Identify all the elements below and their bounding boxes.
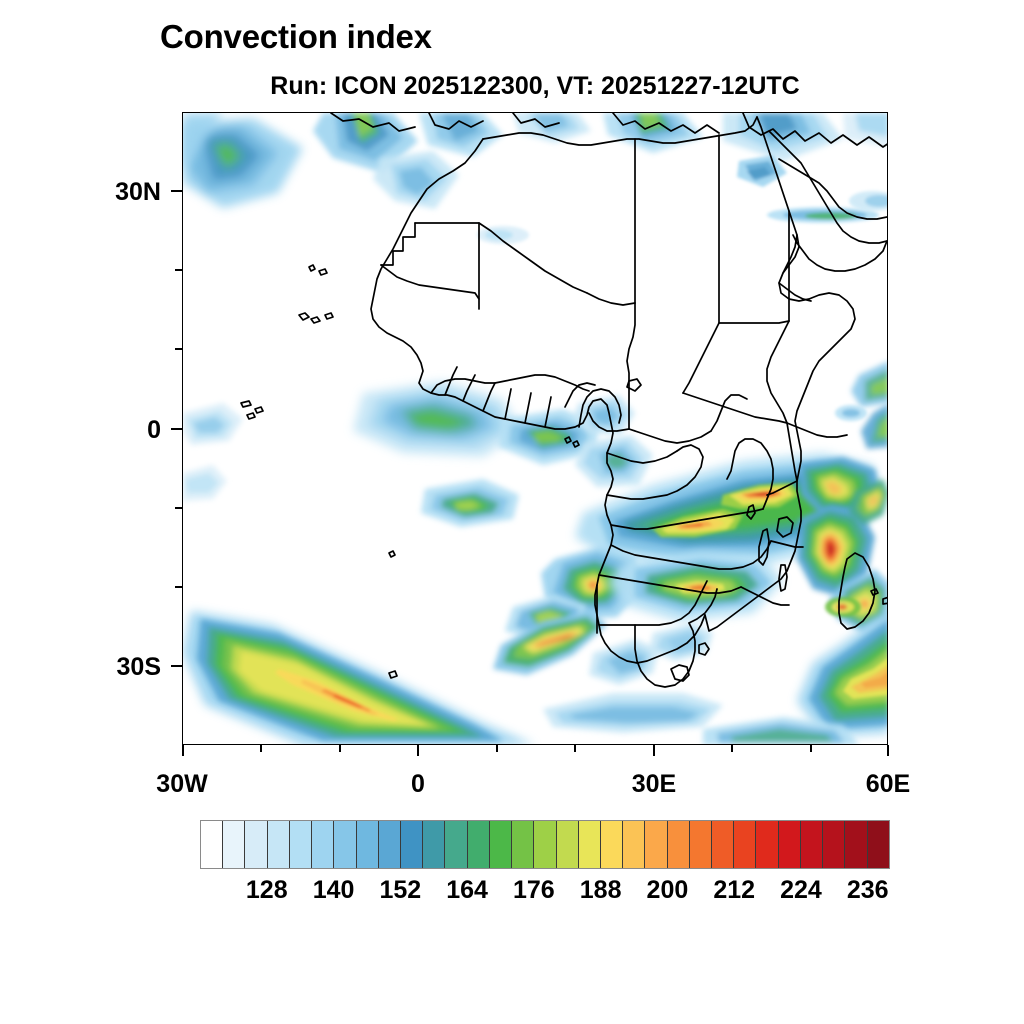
colorbar-cell-0: [201, 821, 223, 868]
x-tick-40E: [731, 745, 733, 752]
x-tick-10E: [496, 745, 498, 752]
colorbar-cell-13: [490, 821, 512, 868]
colorbar-label-152: 152: [379, 876, 421, 905]
colorbar-cell-27: [801, 821, 823, 868]
colorbar-cell-10: [423, 821, 445, 868]
y-axis-label-0: 0: [56, 416, 161, 445]
x-tick-0: [417, 745, 419, 756]
x-tick-60E: [887, 745, 889, 756]
colorbar-cell-29: [845, 821, 867, 868]
colorbar-cell-1: [223, 821, 245, 868]
y-tick-20N: [175, 269, 182, 271]
y-axis-label-30S: 30S: [56, 653, 161, 682]
colorbar-cell-9: [401, 821, 423, 868]
colorbar-cell-5: [312, 821, 334, 868]
colorbar-label-164: 164: [446, 876, 488, 905]
colorbar-cell-24: [734, 821, 756, 868]
x-axis-label-0: 0: [358, 770, 478, 799]
y-tick-30S: [171, 665, 182, 667]
map-plot-area: [182, 112, 888, 745]
y-tick-20S: [175, 586, 182, 588]
page-title: Convection index: [160, 18, 432, 56]
x-axis-label-60E: 60E: [828, 770, 948, 799]
x-tick-20E: [574, 745, 576, 752]
x-axis-label-30W: 30W: [122, 770, 242, 799]
y-axis-label-30N: 30N: [56, 178, 161, 207]
y-tick-0: [171, 428, 182, 430]
x-tick-50E: [810, 745, 812, 752]
colorbar-label-212: 212: [713, 876, 755, 905]
colorbar-labels: 128140152164176188200212224236: [0, 876, 1024, 916]
x-tick-10W: [339, 745, 341, 752]
x-tick-30W: [182, 745, 184, 756]
run-valid-time-subtitle: Run: ICON 2025122300, VT: 20251227-12UTC: [182, 72, 888, 101]
x-axis-label-30E: 30E: [594, 770, 714, 799]
colorbar-cell-15: [534, 821, 556, 868]
colorbar-cell-25: [756, 821, 778, 868]
colorbar-cell-23: [712, 821, 734, 868]
colorbar-cell-7: [357, 821, 379, 868]
colorbar-cell-22: [690, 821, 712, 868]
colorbar-cell-14: [512, 821, 534, 868]
x-tick-20W: [260, 745, 262, 752]
colorbar-cell-19: [623, 821, 645, 868]
colorbar-cell-30: [868, 821, 889, 868]
colorbar-cell-6: [334, 821, 356, 868]
colorbar-cell-28: [823, 821, 845, 868]
colorbar-cell-11: [445, 821, 467, 868]
colorbar-label-176: 176: [513, 876, 555, 905]
colorbar-cell-8: [379, 821, 401, 868]
colorbar-cell-16: [557, 821, 579, 868]
colorbar-label-224: 224: [780, 876, 822, 905]
map-canvas: [183, 113, 888, 745]
colorbar-label-188: 188: [580, 876, 622, 905]
colorbar-cell-3: [268, 821, 290, 868]
colorbar-cell-26: [779, 821, 801, 868]
y-tick-10N: [175, 348, 182, 350]
colorbar-cell-17: [579, 821, 601, 868]
y-tick-10S: [175, 507, 182, 509]
colorbar-cell-12: [468, 821, 490, 868]
colorbar-cell-2: [245, 821, 267, 868]
y-tick-30N: [171, 190, 182, 192]
colorbar-cell-20: [645, 821, 667, 868]
x-tick-30E: [653, 745, 655, 756]
colorbar-cell-4: [290, 821, 312, 868]
colorbar-cell-21: [668, 821, 690, 868]
colorbar[interactable]: [200, 820, 890, 869]
colorbar-cell-18: [601, 821, 623, 868]
colorbar-label-140: 140: [313, 876, 355, 905]
colorbar-label-128: 128: [246, 876, 288, 905]
colorbar-label-200: 200: [647, 876, 689, 905]
colorbar-label-236: 236: [847, 876, 889, 905]
